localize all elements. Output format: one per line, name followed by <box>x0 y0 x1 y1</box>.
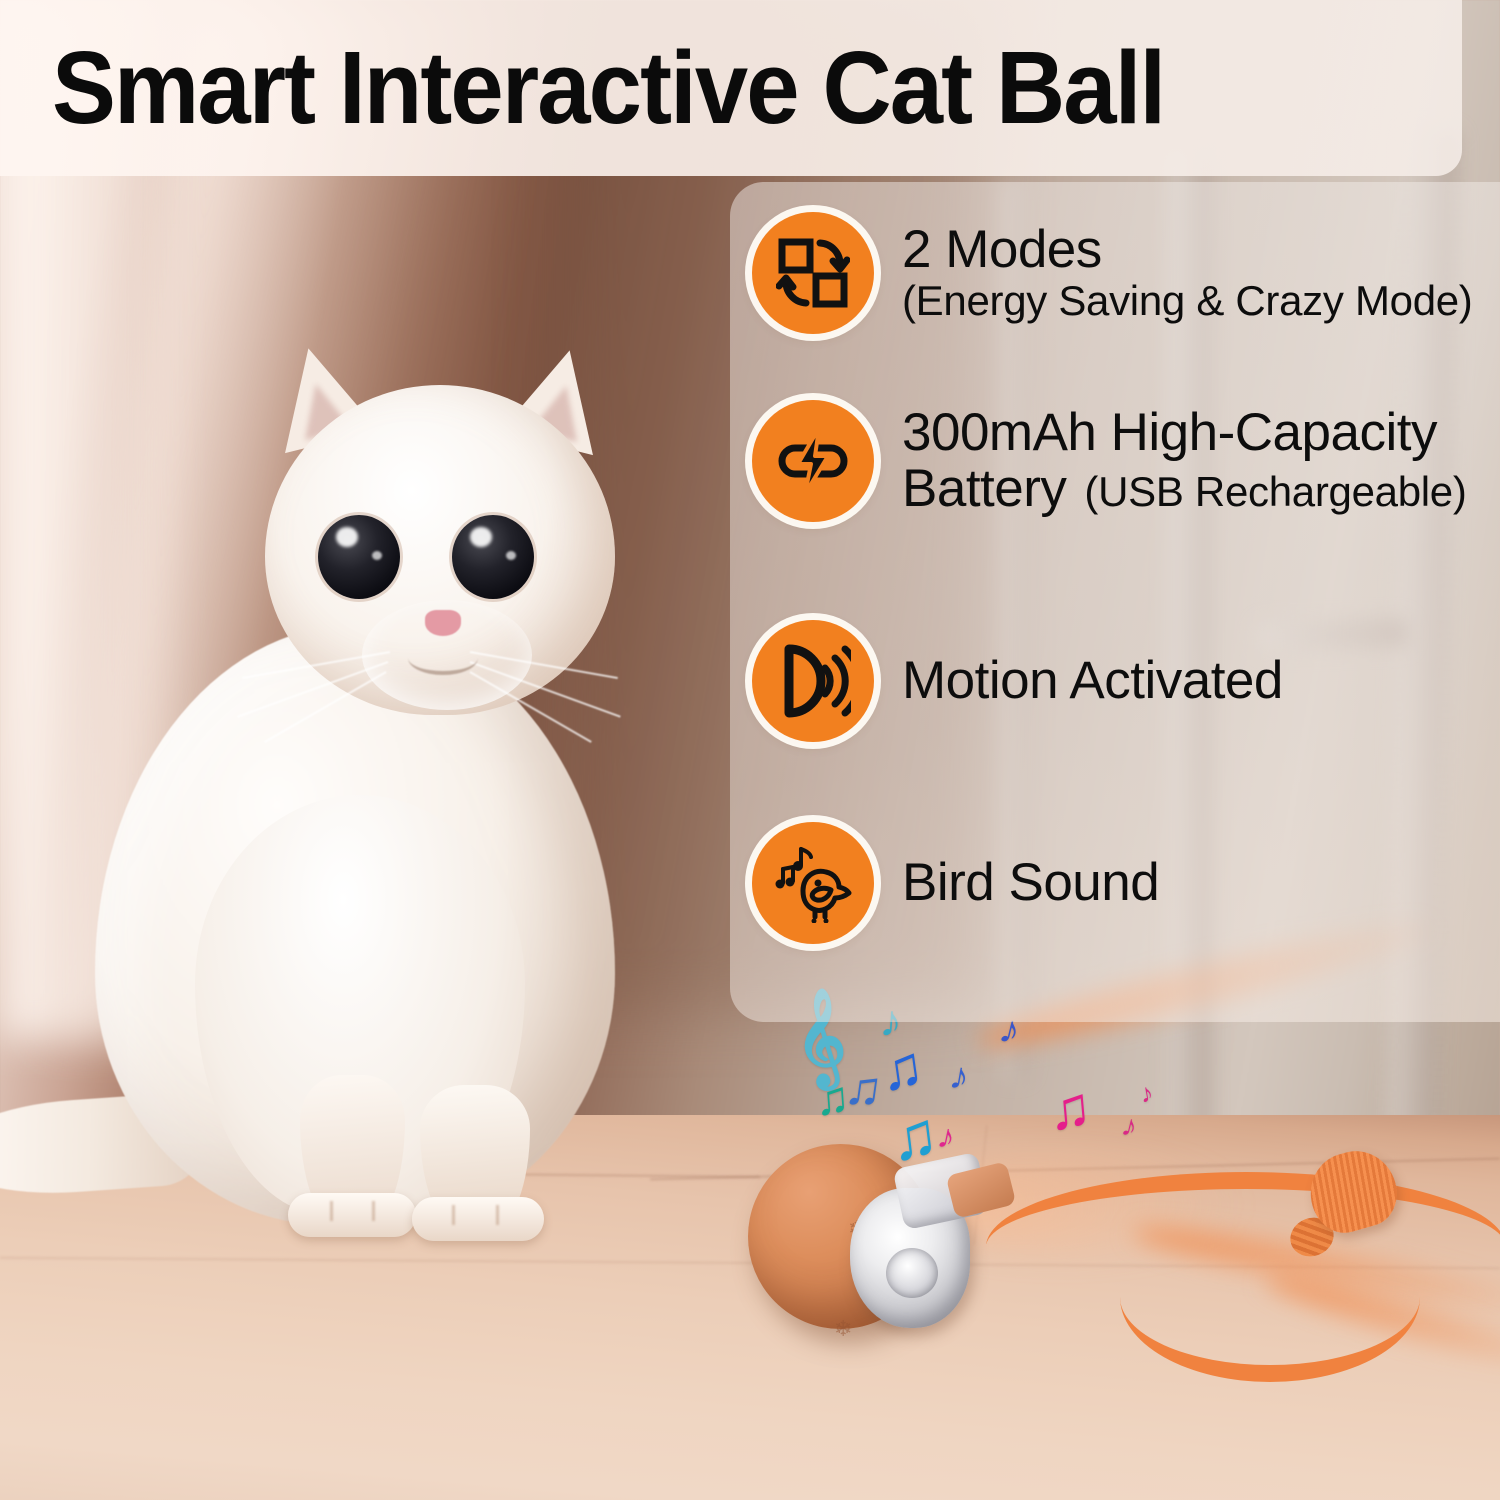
cat-toe-line <box>496 1205 499 1225</box>
feature-title-line1: 300mAh High-Capacity <box>902 405 1467 461</box>
cat-photo-subject <box>0 355 790 1245</box>
feature-list-panel: 2 Modes (Energy Saving & Crazy Mode) 300… <box>730 182 1500 1022</box>
cat-mouth <box>408 641 478 675</box>
bird-sound-icon <box>752 822 874 944</box>
feature-text-motion: Motion Activated <box>902 653 1283 709</box>
music-note-icon: ♫ <box>813 1074 851 1122</box>
feature-item-motion: Motion Activated <box>752 620 1283 742</box>
feature-title: Bird Sound <box>902 855 1159 911</box>
battery-bolt-icon <box>752 400 874 522</box>
music-note-icon: ♫ <box>1046 1078 1094 1140</box>
feature-item-bird-sound: Bird Sound <box>752 822 1159 944</box>
feature-title: 2 Modes <box>902 222 1473 278</box>
feature-subtitle: (USB Rechargeable) <box>1084 468 1466 516</box>
cat-eye-left <box>318 515 400 599</box>
cat-nose <box>425 610 461 636</box>
toy-wheel-hub <box>886 1248 938 1298</box>
title-banner: Smart Interactive Cat Ball <box>0 0 1462 176</box>
cat-eye-highlight <box>336 527 358 547</box>
cat-paw <box>288 1193 416 1237</box>
paw-emboss-icon: ❄ <box>834 1316 852 1342</box>
feature-text-modes: 2 Modes (Energy Saving & Crazy Mode) <box>902 222 1473 324</box>
cat-eye-highlight <box>506 551 516 560</box>
cat-eye-right <box>452 515 534 599</box>
feature-title: Motion Activated <box>902 653 1283 709</box>
feature-item-battery: 300mAh High-Capacity Battery (USB Rechar… <box>752 400 1467 522</box>
feature-title-line2: Battery <box>902 461 1066 517</box>
cat-toe-line <box>372 1201 375 1221</box>
cat-toe-line <box>452 1205 455 1225</box>
cat-toe-line <box>330 1201 333 1221</box>
feature-text-bird-sound: Bird Sound <box>902 855 1159 911</box>
motion-wave-icon <box>752 620 874 742</box>
feature-item-modes: 2 Modes (Energy Saving & Crazy Mode) <box>752 212 1473 334</box>
feature-text-battery: 300mAh High-Capacity Battery (USB Rechar… <box>902 405 1467 517</box>
cat-eye-highlight <box>372 551 382 560</box>
cat-paw <box>412 1197 544 1241</box>
page-title: Smart Interactive Cat Ball <box>52 29 1164 147</box>
two-modes-swap-icon <box>752 212 874 334</box>
cat-eye-highlight <box>470 527 492 547</box>
music-note-icon: ♫ <box>886 1101 941 1170</box>
cat-ball-toy-product: ❄ ❱ ❄ <box>700 1120 1500 1380</box>
feature-subtitle: (Energy Saving & Crazy Mode) <box>902 278 1473 324</box>
